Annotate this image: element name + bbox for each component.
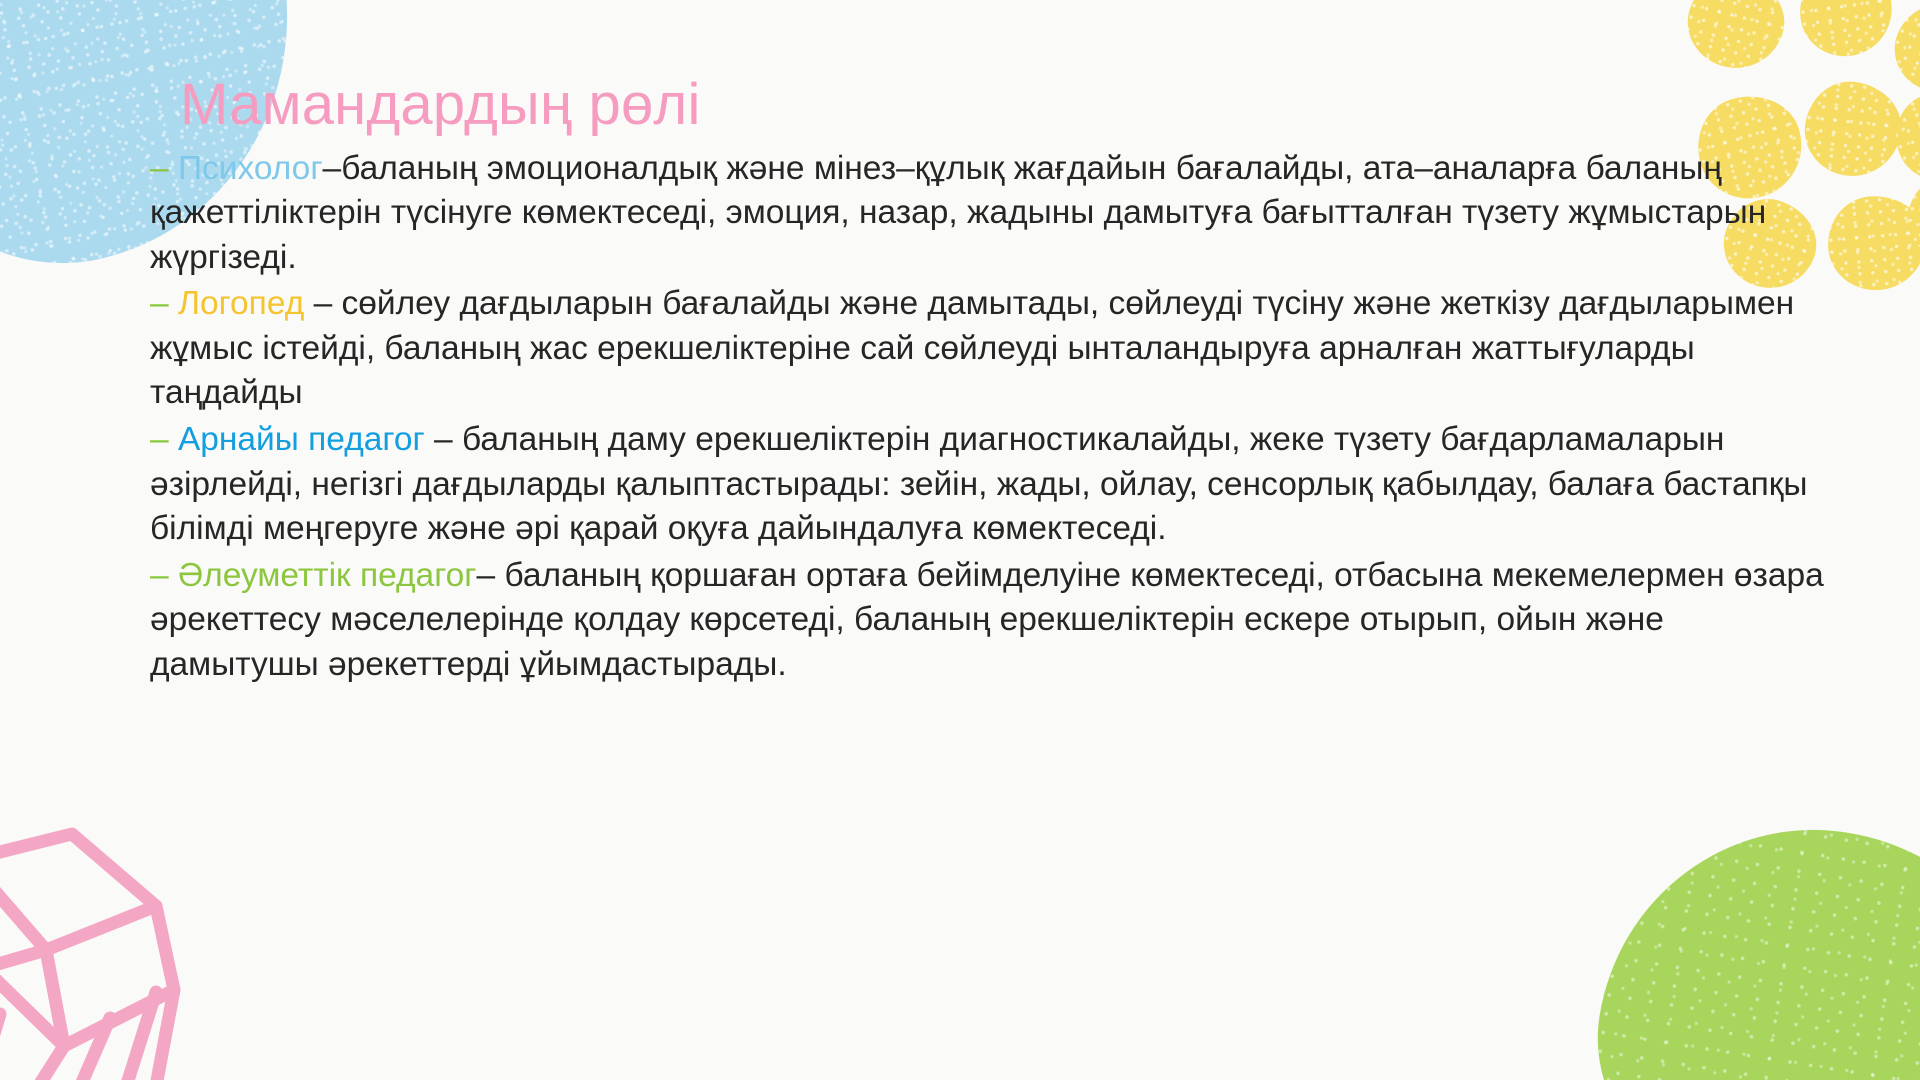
lead-dash: – [150,285,169,322]
specialist-roles-list: – Психолог–баланың эмоционалдық және мін… [150,147,1840,688]
role-label-speech-therapist: Логопед [178,285,304,322]
role-separator: – [477,557,496,594]
list-item-social-educator: – Әлеуметтік педагог– баланың қоршаған о… [150,554,1840,688]
list-item-psychologist: – Психолог–баланың эмоционалдық және мін… [150,147,1840,281]
bottom-right-green-blob-decoration [1571,799,1920,1080]
list-item-special-educator: – Арнайы педагог – баланың даму ерекшелі… [150,418,1840,552]
lead-dash: – [150,557,169,594]
role-separator: – [314,285,333,322]
role-separator: – [434,421,453,458]
yellow-dot-decoration [1884,79,1920,192]
bottom-left-pink-sketch-decoration [0,800,260,1080]
list-item-speech-therapist: – Логопед – сөйлеу дағдыларын бағалайды … [150,282,1840,416]
role-label-social-educator: Әлеуметтік педагог [178,557,477,594]
yellow-dot-decoration [1882,0,1920,105]
lead-dash: – [150,150,169,187]
role-description: сөйлеу дағдыларын бағалайды және дамытад… [150,285,1794,411]
role-label-special-educator: Арнайы педагог [178,421,425,458]
lead-dash: – [150,421,169,458]
slide-canvas: Мамандардың рөлі – Психолог–баланың эмоц… [0,0,1920,1080]
role-description: баланың эмоционалдық және мінез–құлық жа… [150,150,1766,276]
yellow-dot-decoration [1794,0,1898,62]
page-title: Мамандардың рөлі [180,72,1840,139]
yellow-dot-decoration [1678,0,1793,78]
slide-content: Мамандардың рөлі – Психолог–баланың эмоц… [150,72,1840,689]
role-label-psychologist: Психолог [178,150,323,187]
role-separator: – [323,150,342,187]
yellow-dot-decoration [1901,169,1920,268]
